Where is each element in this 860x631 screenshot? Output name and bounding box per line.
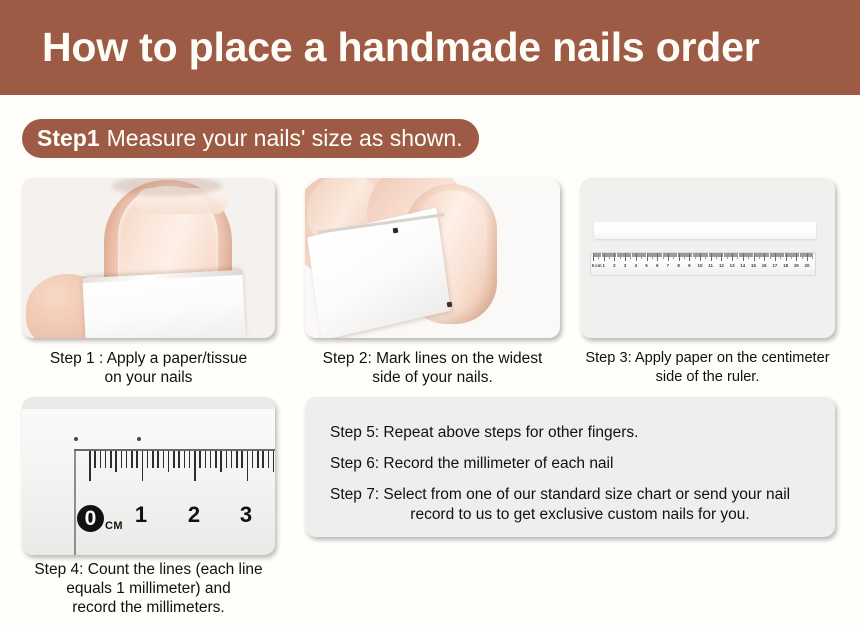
ruler-tick [189, 451, 191, 468]
ruler-small-number: 17 [772, 263, 777, 268]
ruler-small-number: 2 [613, 263, 615, 268]
paper-mark-dot-left [74, 437, 78, 441]
ruler-small-ticks [591, 253, 815, 262]
caption-step4: Step 4: Count the lines (each line equal… [6, 560, 291, 617]
ruler-small-number: 16 [762, 263, 767, 268]
caption-step2-line1: Step 2: Mark lines on the widest [300, 349, 565, 368]
step6-text: Step 6: Record the millimeter of each na… [330, 455, 820, 473]
photo-card-step3: 01234567891011121314151617181920cm [580, 178, 835, 338]
caption-step2: Step 2: Mark lines on the widest side of… [300, 349, 565, 387]
ruler-small-unit: cm [595, 263, 601, 268]
ruler-tick [205, 451, 207, 468]
ruler-tick [199, 451, 201, 468]
step7-text: Step 7: Select from one of our standard … [330, 486, 820, 524]
ruler-tick [257, 451, 259, 468]
step1-label: Step1 [37, 125, 100, 152]
photo-marking-paper [305, 178, 560, 338]
ruler-tick [236, 451, 238, 468]
ruler-small-number: 8 [677, 263, 679, 268]
caption-step4-line2: equals 1 millimeter) and [6, 579, 291, 598]
photo-card-step1 [22, 178, 275, 338]
photo-ruler-closeup: 0 CM 1 2 3 [22, 397, 275, 555]
photo-paper-on-ruler: 01234567891011121314151617181920cm [580, 178, 835, 338]
ruler-small-number: 20 [805, 263, 810, 268]
paper-strip [594, 222, 816, 239]
ruler-small-number: 11 [708, 263, 713, 268]
ruler-tick [126, 451, 128, 468]
ruler-small-number: 12 [719, 263, 724, 268]
ruler-number-1: 1 [135, 502, 147, 528]
ruler-small-number: 4 [635, 263, 637, 268]
step1-description: Measure your nails' size as shown. [107, 125, 463, 152]
ruler-tick [94, 451, 96, 468]
ruler-tick [247, 451, 249, 481]
steps-list: Step 5: Repeat above steps for other fin… [330, 424, 820, 524]
ruler-tick [168, 451, 170, 472]
pen-mark-lower [447, 302, 453, 308]
ruler-tick [210, 451, 212, 468]
ruler-tick [105, 451, 107, 468]
ruler-tick [157, 451, 159, 468]
page-title: How to place a handmade nails order [0, 24, 760, 71]
ruler-small-number: 1 [602, 263, 604, 268]
photo-card-step2 [305, 178, 560, 338]
ruler-tick [231, 451, 233, 468]
ruler-tick [131, 451, 133, 468]
ruler-small-number: 3 [624, 263, 626, 268]
step7-line2: record to us to get exclusive custom nai… [330, 506, 820, 524]
ruler-small-number: 19 [794, 263, 799, 268]
ruler-tick [152, 451, 154, 468]
ruler-tick [268, 451, 270, 468]
ruler-tick [241, 451, 243, 468]
ruler-small-number: 15 [751, 263, 756, 268]
ruler-small-number: 0 [592, 263, 594, 268]
ruler-small-number: 10 [698, 263, 703, 268]
ruler-small-numbers: 01234567891011121314151617181920cm [591, 263, 815, 274]
ruler-tick [142, 451, 144, 481]
ruler-tick [273, 451, 275, 472]
ruler-tick [147, 451, 149, 468]
page-header-banner: How to place a handmade nails order [0, 0, 860, 95]
ruler-body: 0 CM 1 2 3 [22, 409, 275, 555]
paper-mark-dot-right [137, 437, 141, 441]
ruler-small-number: 14 [740, 263, 745, 268]
ruler-number-3: 3 [240, 502, 252, 528]
ruler-small-number: 9 [688, 263, 690, 268]
ruler-tick [184, 451, 186, 468]
ruler-small-number: 7 [667, 263, 669, 268]
ruler-tick [100, 451, 102, 468]
caption-step2-line2: side of your nails. [300, 368, 565, 387]
ruler-tick [252, 451, 254, 468]
caption-step3-line2: side of the ruler. [575, 368, 840, 387]
ruler-small-number: 5 [645, 263, 647, 268]
pen-mark-upper [393, 228, 399, 234]
ruler-tick [163, 451, 165, 468]
photo-card-step4: 0 CM 1 2 3 [22, 397, 275, 555]
caption-step4-line1: Step 4: Count the lines (each line [6, 560, 291, 579]
ruler-small-number: 13 [730, 263, 735, 268]
step7-line1: Step 7: Select from one of our standard … [330, 486, 790, 503]
ruler-small: 01234567891011121314151617181920cm [590, 252, 816, 276]
paper-strip [82, 270, 245, 338]
step1-badge: Step1 Measure your nails' size as shown. [22, 119, 479, 158]
ruler-small-number: 6 [656, 263, 658, 268]
ruler-tick [178, 451, 180, 468]
caption-step1-line1: Step 1 : Apply a paper/tissue [6, 349, 291, 368]
ruler-unit-label: CM [105, 520, 123, 532]
ruler-tick [136, 451, 138, 468]
ruler-tick [110, 451, 112, 468]
photo-finger-with-paper [22, 178, 275, 338]
caption-step3-line1: Step 3: Apply paper on the centimeter [575, 349, 840, 368]
ruler-tick [262, 451, 264, 468]
ruler-tick [194, 451, 196, 481]
ruler-small-number: 18 [783, 263, 788, 268]
ruler-tick [173, 451, 175, 468]
ruler-tick [220, 451, 222, 472]
caption-step1-line2: on your nails [6, 368, 291, 387]
ruler-tick [89, 451, 91, 481]
ruler-tick [215, 451, 217, 468]
ruler-tick [226, 451, 228, 468]
ruler-tick [115, 451, 117, 472]
ruler-tick [121, 451, 123, 468]
ruler-number-2: 2 [188, 502, 200, 528]
ruler-zero-marker: 0 [77, 505, 104, 532]
ruler-closeup-ticks [74, 451, 275, 481]
caption-step4-line3: record the millimeters. [6, 598, 291, 617]
caption-step1: Step 1 : Apply a paper/tissue on your na… [6, 349, 291, 387]
step5-text: Step 5: Repeat above steps for other fin… [330, 424, 820, 442]
caption-step3: Step 3: Apply paper on the centimeter si… [575, 349, 840, 387]
